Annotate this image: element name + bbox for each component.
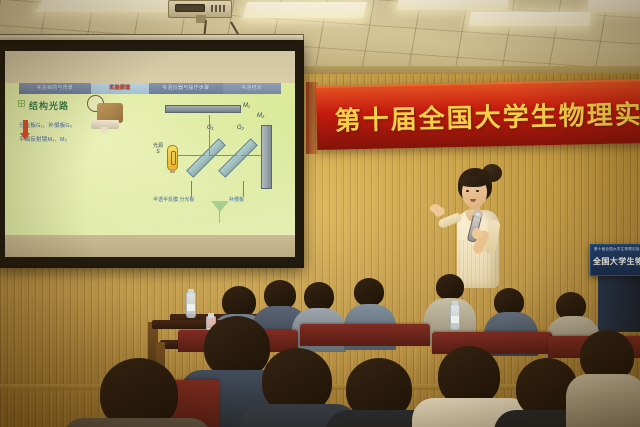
slide-tab-purpose: 实验目的与背景 [19, 83, 91, 94]
audience-head [304, 282, 334, 311]
down-arrow-icon [23, 120, 28, 134]
speaker-left-hand [430, 204, 441, 213]
audience-head [354, 278, 384, 306]
caption-compensator: 补偿板 [229, 197, 244, 204]
projector-lens [175, 4, 205, 12]
projection-screen-frame: 实验目的与背景 实验原理 实验仪器与操作步骤 实验结论 结构光路 分光板G₁、补… [0, 40, 304, 268]
label-g1: G₁ [207, 125, 214, 131]
projector-vents [211, 5, 227, 12]
lamp-filament [171, 151, 176, 165]
audience-head [204, 316, 270, 378]
apparatus-stem [101, 127, 108, 133]
slide-title: 结构光路 [29, 99, 69, 112]
speaker-eye [476, 190, 479, 192]
ceiling-light-panel [243, 2, 368, 18]
bottle-label [187, 304, 195, 311]
presentation-slide: 实验目的与背景 实验原理 实验仪器与操作步骤 实验结论 结构光路 分光板G₁、补… [5, 83, 295, 235]
ceiling-light-panel [397, 0, 509, 10]
callout-line-right [243, 181, 244, 197]
lamp-base [170, 169, 175, 173]
bottle-cap [208, 313, 213, 318]
speaker-right-hand [472, 228, 482, 239]
water-bottle [186, 292, 196, 318]
label-m1: M₁ [243, 103, 250, 109]
ceiling-light-panel [588, 0, 640, 12]
light-ray [209, 155, 237, 156]
seat-back [300, 324, 430, 346]
water-bottle [450, 304, 460, 330]
bottle-label [451, 316, 459, 323]
audience [0, 262, 640, 427]
light-ray [177, 155, 205, 156]
optical-path-diagram: M₁ M₂ G₁ G₂ 光源 S [151, 89, 289, 229]
audience-body [62, 418, 212, 427]
label-light-source: 光源 S [153, 143, 163, 155]
audience-head [436, 274, 464, 300]
audience-head [100, 358, 178, 427]
speaker-fringe [460, 176, 487, 187]
label-g2: G₂ [237, 125, 244, 131]
light-ray-vertical [209, 115, 210, 155]
bottle-cap [452, 301, 457, 306]
light-ray [241, 155, 263, 156]
mirror-m2 [261, 125, 272, 189]
apparatus-photo [83, 95, 127, 141]
lecture-hall-photo: 实验目的与背景 实验原理 实验仪器与操作步骤 实验结论 结构光路 分光板G₁、补… [0, 0, 640, 427]
bottle-cap [188, 289, 193, 294]
observer-stem [219, 211, 220, 223]
caption-beam-splitter: 半透半反膜 分光板 [153, 197, 194, 204]
mirror-m1 [165, 105, 241, 113]
blue-sign-subtitle: 第十届全国大学生物理实验竞赛 [594, 247, 640, 252]
ceiling-light-panel [469, 12, 591, 26]
callout-line-left [191, 181, 192, 197]
light-source-lamp [167, 145, 178, 171]
label-m2: M₂ [257, 113, 264, 119]
projection-screen: 实验目的与背景 实验原理 实验仪器与操作步骤 实验结论 结构光路 分光板G₁、补… [5, 51, 295, 257]
screen-lower-blank-area [5, 235, 295, 257]
speaker-eye [466, 190, 469, 192]
audience-body [566, 374, 640, 427]
slide-tab-principle: 实验原理 [91, 83, 149, 94]
audience-head [438, 346, 500, 406]
red-banner: 第十届全国大学生物理实验竞赛校内选 [316, 79, 640, 150]
slide-title-bullet-icon [18, 100, 25, 107]
